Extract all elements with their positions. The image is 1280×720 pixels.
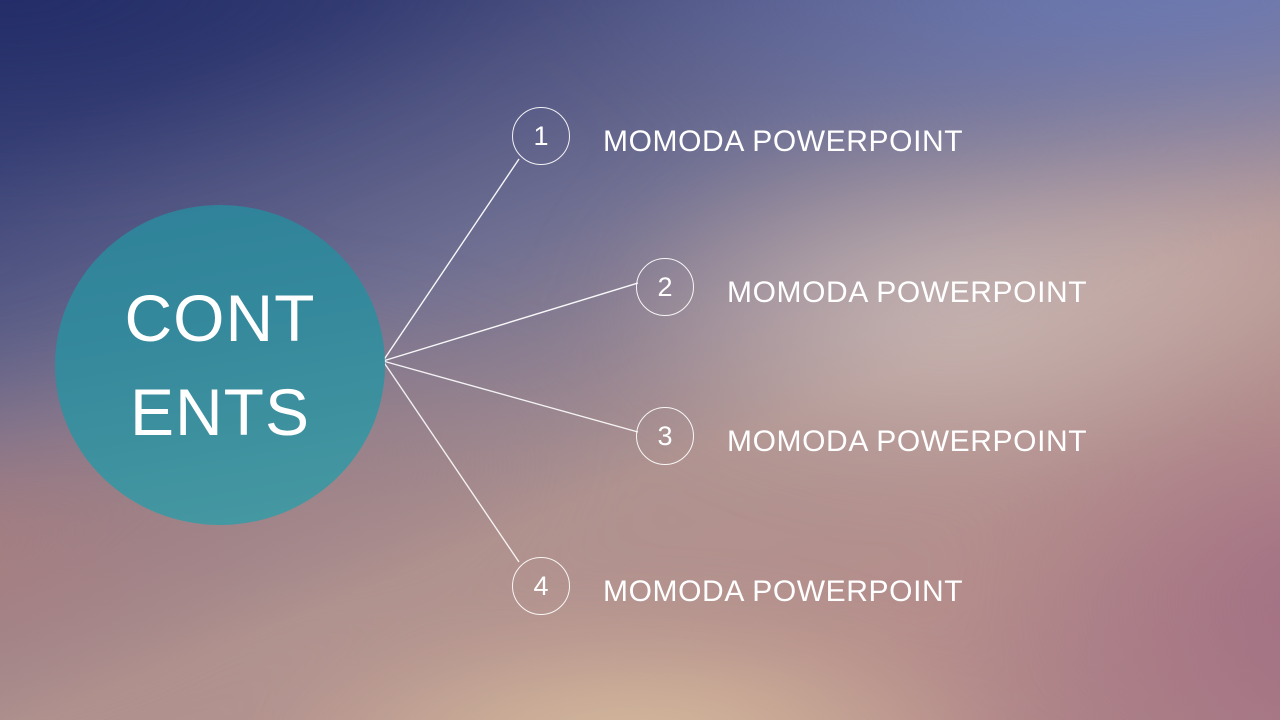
connector-line-3 [383,361,638,432]
item-number-text-1: 1 [533,123,548,150]
item-number-circle-1[interactable]: 1 [512,107,570,165]
connector-line-4 [383,361,519,562]
hub-title-line-2: ENTS [130,365,310,459]
hub-title-line-1: CONT [125,271,316,365]
item-label-2[interactable]: MOMODA POWERPOINT [727,276,1087,310]
item-label-4[interactable]: MOMODA POWERPOINT [603,575,963,609]
connector-line-2 [383,283,638,361]
item-label-1[interactable]: MOMODA POWERPOINT [603,125,963,159]
item-number-text-3: 3 [657,423,672,450]
item-number-circle-3[interactable]: 3 [636,407,694,465]
slide-canvas: CONT ENTS 1 MOMODA POWERPOINT 2 MOMODA P… [0,0,1280,720]
item-number-circle-2[interactable]: 2 [636,258,694,316]
item-number-text-4: 4 [533,573,548,600]
connector-line-1 [383,159,519,361]
item-label-3[interactable]: MOMODA POWERPOINT [727,425,1087,459]
contents-hub-circle[interactable]: CONT ENTS [55,205,385,525]
item-number-text-2: 2 [657,274,672,301]
item-number-circle-4[interactable]: 4 [512,557,570,615]
